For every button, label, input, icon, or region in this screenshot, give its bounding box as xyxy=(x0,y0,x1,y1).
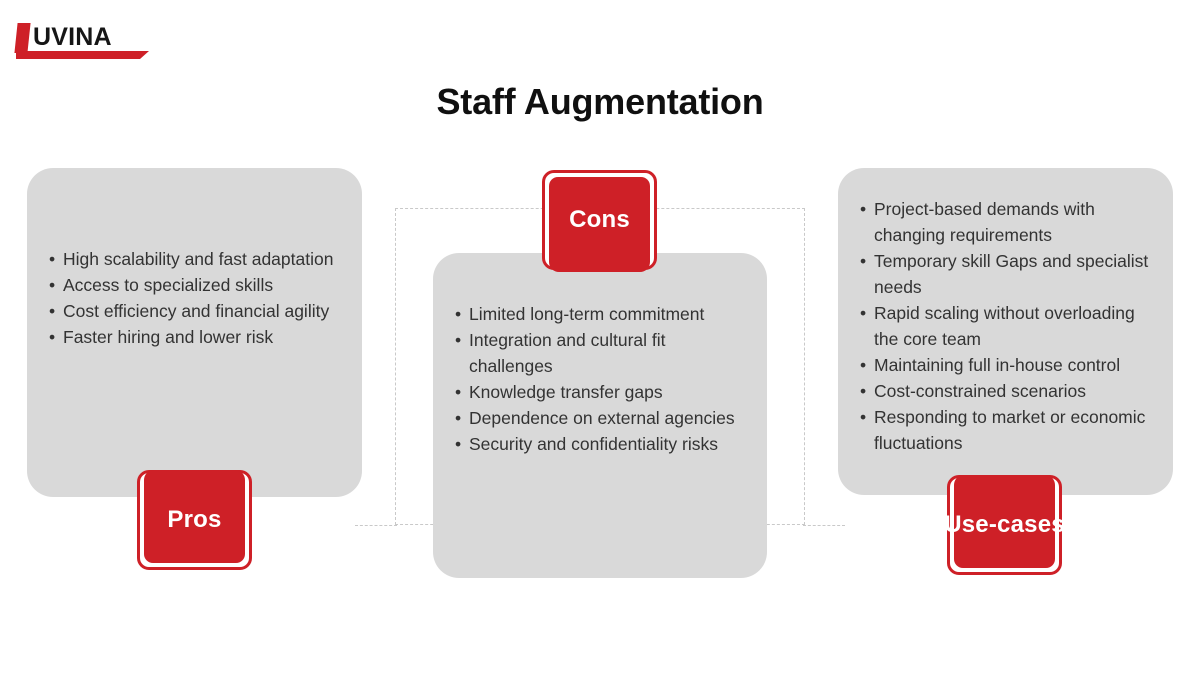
dashed-connector-stub-right xyxy=(803,525,845,526)
list-item: High scalability and fast adaptation xyxy=(49,246,340,272)
card-cons-list: Limited long-term commitment Integration… xyxy=(455,301,745,457)
list-item: Security and confidentiality risks xyxy=(455,431,745,457)
badge-usecases-connector-tab xyxy=(954,475,1055,503)
logo-wordmark: UVINA xyxy=(33,24,112,51)
card-pros: High scalability and fast adaptation Acc… xyxy=(27,168,362,497)
badge-usecases-line-2: cases xyxy=(997,510,1065,540)
list-item: Integration and cultural fit challenges xyxy=(455,327,745,379)
list-item: Responding to market or economic fluctua… xyxy=(860,404,1151,456)
slide-canvas: UVINA Staff Augmentation High scalabilit… xyxy=(0,0,1200,675)
card-usecases-body: Project-based demands with changing requ… xyxy=(838,196,1173,456)
logo-l-stroke-icon xyxy=(14,23,30,53)
list-item: Access to specialized skills xyxy=(49,272,340,298)
card-cons-body: Limited long-term commitment Integration… xyxy=(433,301,767,457)
luvina-logo: UVINA xyxy=(14,23,146,61)
card-pros-body: High scalability and fast adaptation Acc… xyxy=(27,246,362,350)
list-item: Limited long-term commitment xyxy=(455,301,745,327)
list-item: Maintaining full in-house control xyxy=(860,352,1151,378)
list-item: Project-based demands with changing requ… xyxy=(860,196,1151,248)
card-pros-list: High scalability and fast adaptation Acc… xyxy=(49,246,340,350)
list-item: Temporary skill Gaps and specialist need… xyxy=(860,248,1151,300)
card-cons: Limited long-term commitment Integration… xyxy=(433,253,767,578)
badge-cons-connector-tab xyxy=(549,238,650,272)
badge-usecases-line-1: Use- xyxy=(944,510,997,540)
page-title: Staff Augmentation xyxy=(0,79,1200,125)
badge-pros-connector-tab xyxy=(144,470,245,502)
card-usecases-list: Project-based demands with changing requ… xyxy=(860,196,1151,456)
logo-underline-bar-icon xyxy=(16,51,140,59)
list-item: Faster hiring and lower risk xyxy=(49,324,340,350)
list-item: Knowledge transfer gaps xyxy=(455,379,745,405)
list-item: Dependence on external agencies xyxy=(455,405,745,431)
list-item: Rapid scaling without overloading the co… xyxy=(860,300,1151,352)
list-item: Cost-constrained scenarios xyxy=(860,378,1151,404)
list-item: Cost efficiency and financial agility xyxy=(49,298,340,324)
card-usecases: Project-based demands with changing requ… xyxy=(838,168,1173,495)
dashed-connector-stub-left xyxy=(355,525,397,526)
